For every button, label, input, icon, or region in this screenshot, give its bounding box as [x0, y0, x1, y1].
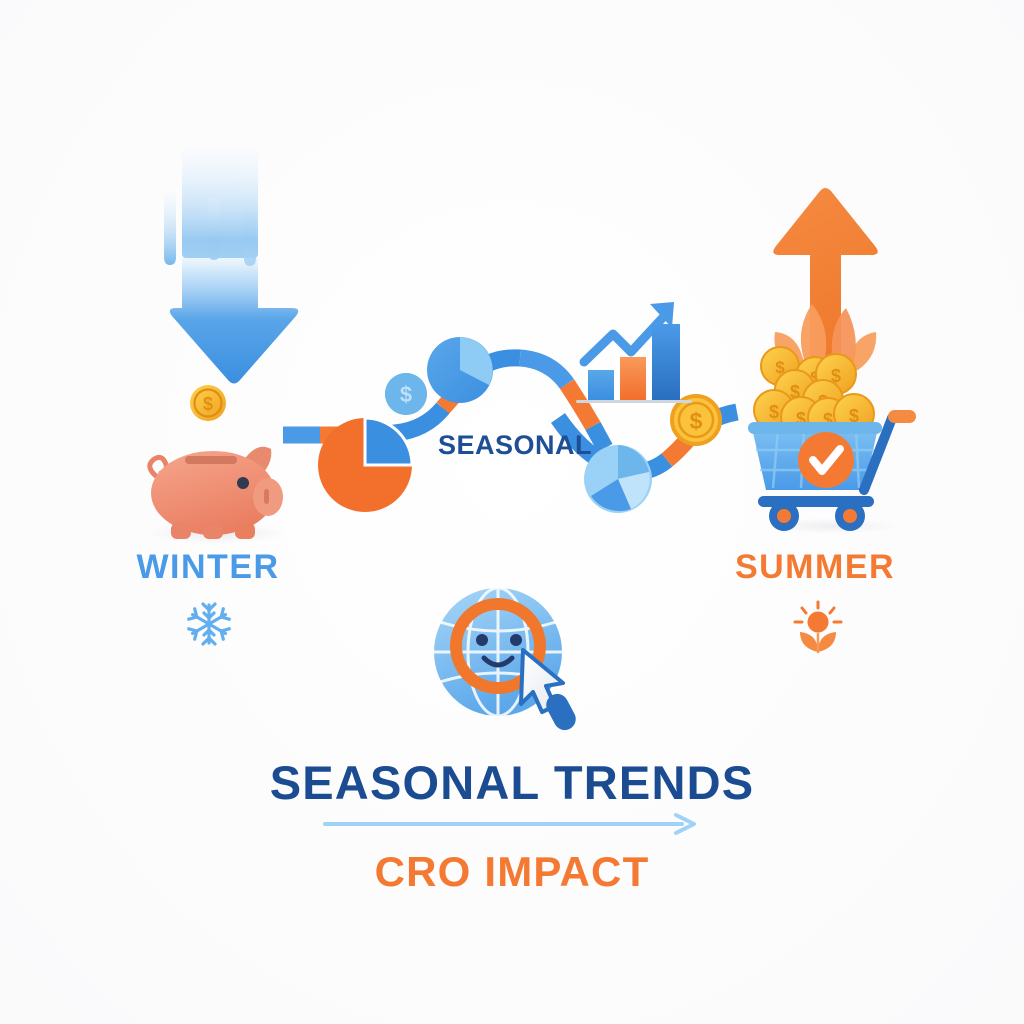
- wave-pie-orange: [318, 418, 412, 512]
- page-subtitle: CRO IMPACT: [0, 850, 1024, 894]
- snowflake-icon: [185, 600, 233, 648]
- global-search-icon-group: [430, 580, 610, 735]
- shopping-cart-with-coins: $ $ $ $ $: [740, 338, 920, 533]
- bar-3: [652, 324, 680, 400]
- title-block: SEASONAL TRENDS CRO IMPACT: [0, 758, 1024, 894]
- svg-text:$: $: [769, 402, 779, 422]
- page-title: SEASONAL TRENDS: [0, 758, 1024, 807]
- check-circle-icon: [798, 432, 854, 488]
- wave-coin-light: $: [385, 373, 427, 415]
- winter-label: WINTER: [108, 548, 308, 587]
- svg-text:$: $: [203, 394, 213, 414]
- right-arrow-divider: [0, 811, 1024, 837]
- bar-1: [588, 370, 614, 400]
- svg-text:$: $: [400, 382, 412, 407]
- bar-2: [620, 357, 646, 400]
- summer-label: SUMMER: [715, 548, 915, 587]
- mini-bar-chart: [568, 288, 698, 410]
- svg-text:$: $: [690, 408, 703, 434]
- seasonal-wave-label: SEASONAL: [400, 430, 630, 461]
- infographic-canvas: $: [0, 0, 1024, 1024]
- wave-pie-blue: [427, 337, 493, 403]
- sun-flower-icon: [790, 600, 846, 656]
